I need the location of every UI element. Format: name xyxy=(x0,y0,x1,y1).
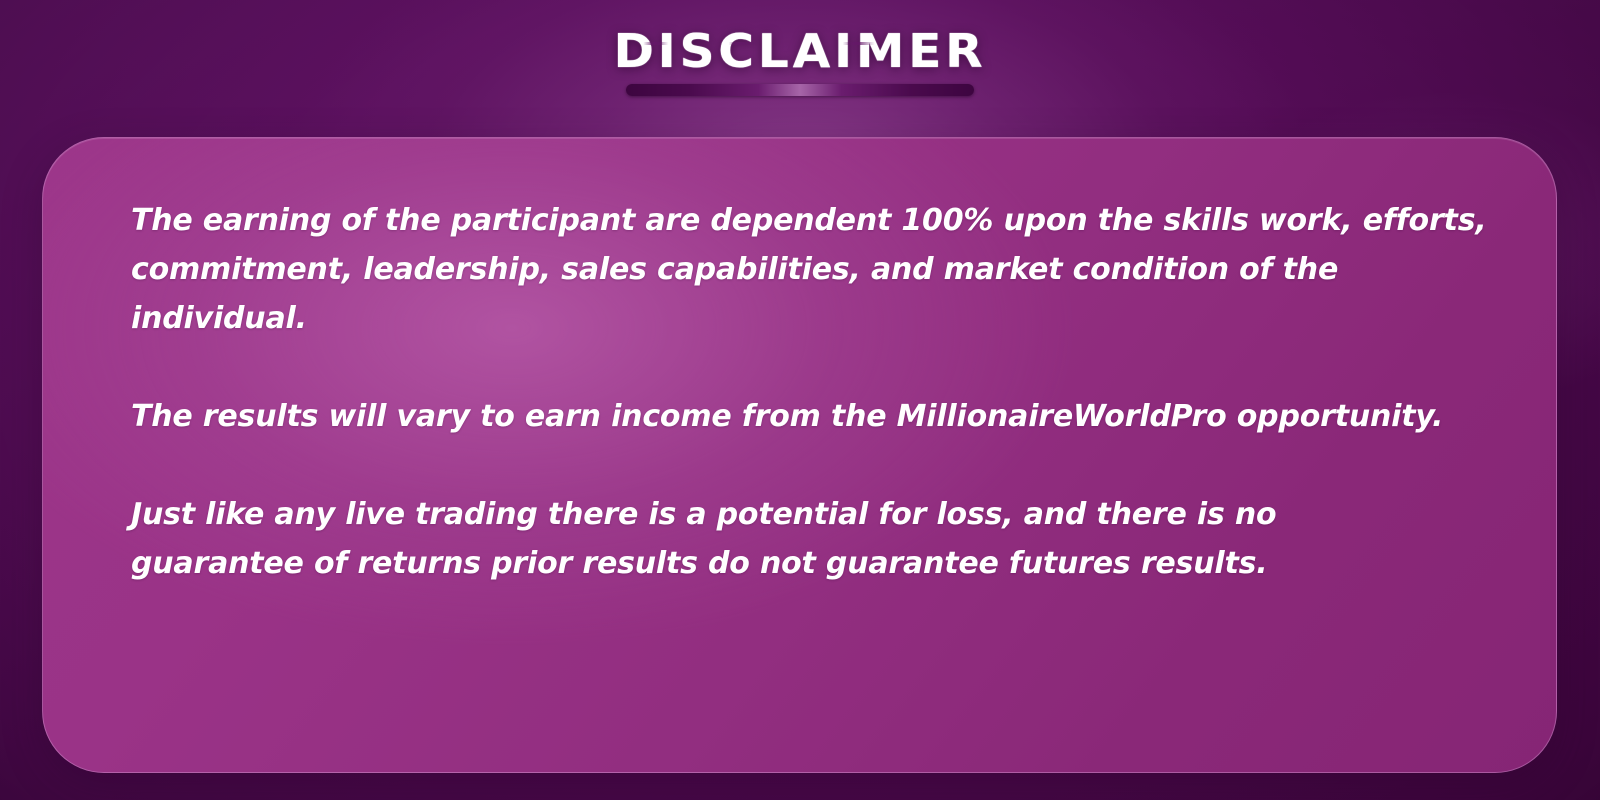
header: DISCLAIMER xyxy=(0,28,1600,96)
disclaimer-paragraph-2: The results will vary to earn income fro… xyxy=(131,392,1496,441)
disclaimer-slide: DISCLAIMER The earning of the participan… xyxy=(0,0,1600,800)
disclaimer-card: The earning of the participant are depen… xyxy=(42,137,1557,773)
page-title: DISCLAIMER xyxy=(614,28,987,74)
disclaimer-paragraph-3: Just like any live trading there is a po… xyxy=(131,490,1496,588)
disclaimer-paragraph-1: The earning of the participant are depen… xyxy=(131,196,1496,343)
page-title-wrapper: DISCLAIMER xyxy=(624,28,976,74)
title-underline-bar xyxy=(626,84,974,96)
disclaimer-text-block: The earning of the participant are depen… xyxy=(131,196,1496,588)
